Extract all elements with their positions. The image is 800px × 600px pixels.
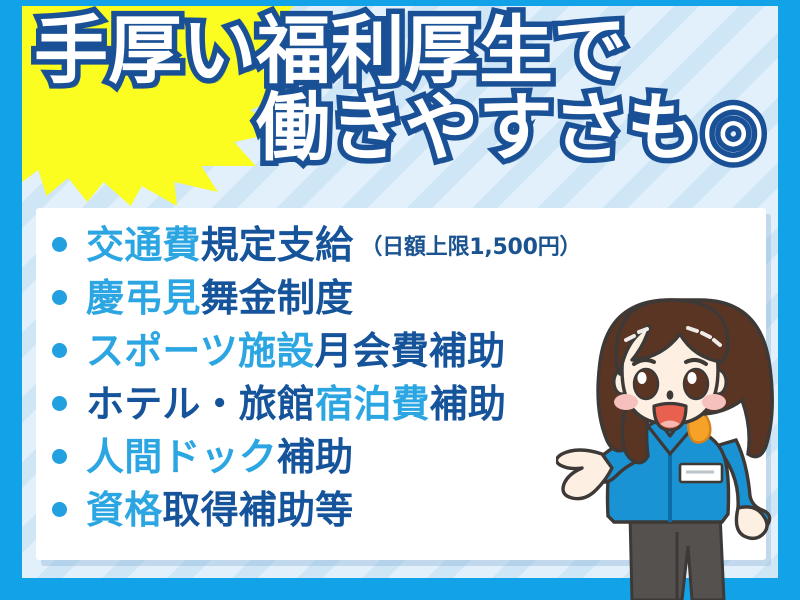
bullet-dot-icon	[52, 237, 67, 252]
bullet-dot-icon	[52, 396, 67, 411]
headline: 手厚い福利厚生で 働きやすさも◎	[0, 16, 780, 164]
benefit-label-segment: 宿泊費	[315, 382, 430, 426]
benefit-label: スポーツ施設月会費補助	[86, 332, 505, 370]
bullet-dot-icon	[52, 343, 67, 358]
benefit-label-segment: 交通費	[86, 223, 201, 267]
benefit-label-segment: 慶弔見	[86, 276, 201, 320]
bullet-dot-icon	[52, 449, 67, 464]
benefit-label-segment: ホテル・旅館	[86, 382, 315, 426]
benefit-label: 資格取得補助等	[86, 491, 353, 529]
benefit-label-segment: スポーツ施設	[86, 329, 314, 373]
benefit-label-segment: 補助	[430, 382, 506, 426]
benefit-label-segment: 補助	[277, 435, 353, 479]
headline-line-2: 働きやすさも◎	[0, 93, 780, 164]
benefit-note: （日額上限1,500円）	[360, 229, 581, 261]
mouth	[654, 404, 686, 431]
waving-hand	[556, 450, 612, 499]
headline-line-1: 手厚い福利厚生で	[0, 16, 780, 87]
benefits-banner: 手厚い福利厚生で 働きやすさも◎ 交通費規定支給（日額上限1,500円）慶弔見舞…	[0, 0, 800, 600]
benefit-item: 交通費規定支給（日額上限1,500円）	[52, 218, 672, 271]
bullet-dot-icon	[52, 290, 67, 305]
benefit-label: 慶弔見舞金制度	[86, 279, 353, 317]
benefit-label-segment: 規定支給	[201, 223, 354, 267]
benefit-label: 交通費規定支給	[86, 226, 353, 264]
benefit-label-segment: 取得補助等	[162, 488, 353, 532]
pants	[630, 514, 724, 600]
benefit-label-segment: 人間ドック	[86, 435, 277, 479]
benefit-label-segment: 月会費補助	[314, 329, 505, 373]
benefit-label-segment: 舞金制度	[201, 276, 354, 320]
benefit-label-segment: 資格	[86, 488, 162, 532]
bullet-dot-icon	[52, 502, 67, 517]
benefit-label: 人間ドック補助	[86, 438, 353, 476]
benefit-label: ホテル・旅館宿泊費補助	[86, 385, 506, 423]
staff-character-illustration	[556, 296, 800, 600]
nose	[667, 390, 674, 399]
